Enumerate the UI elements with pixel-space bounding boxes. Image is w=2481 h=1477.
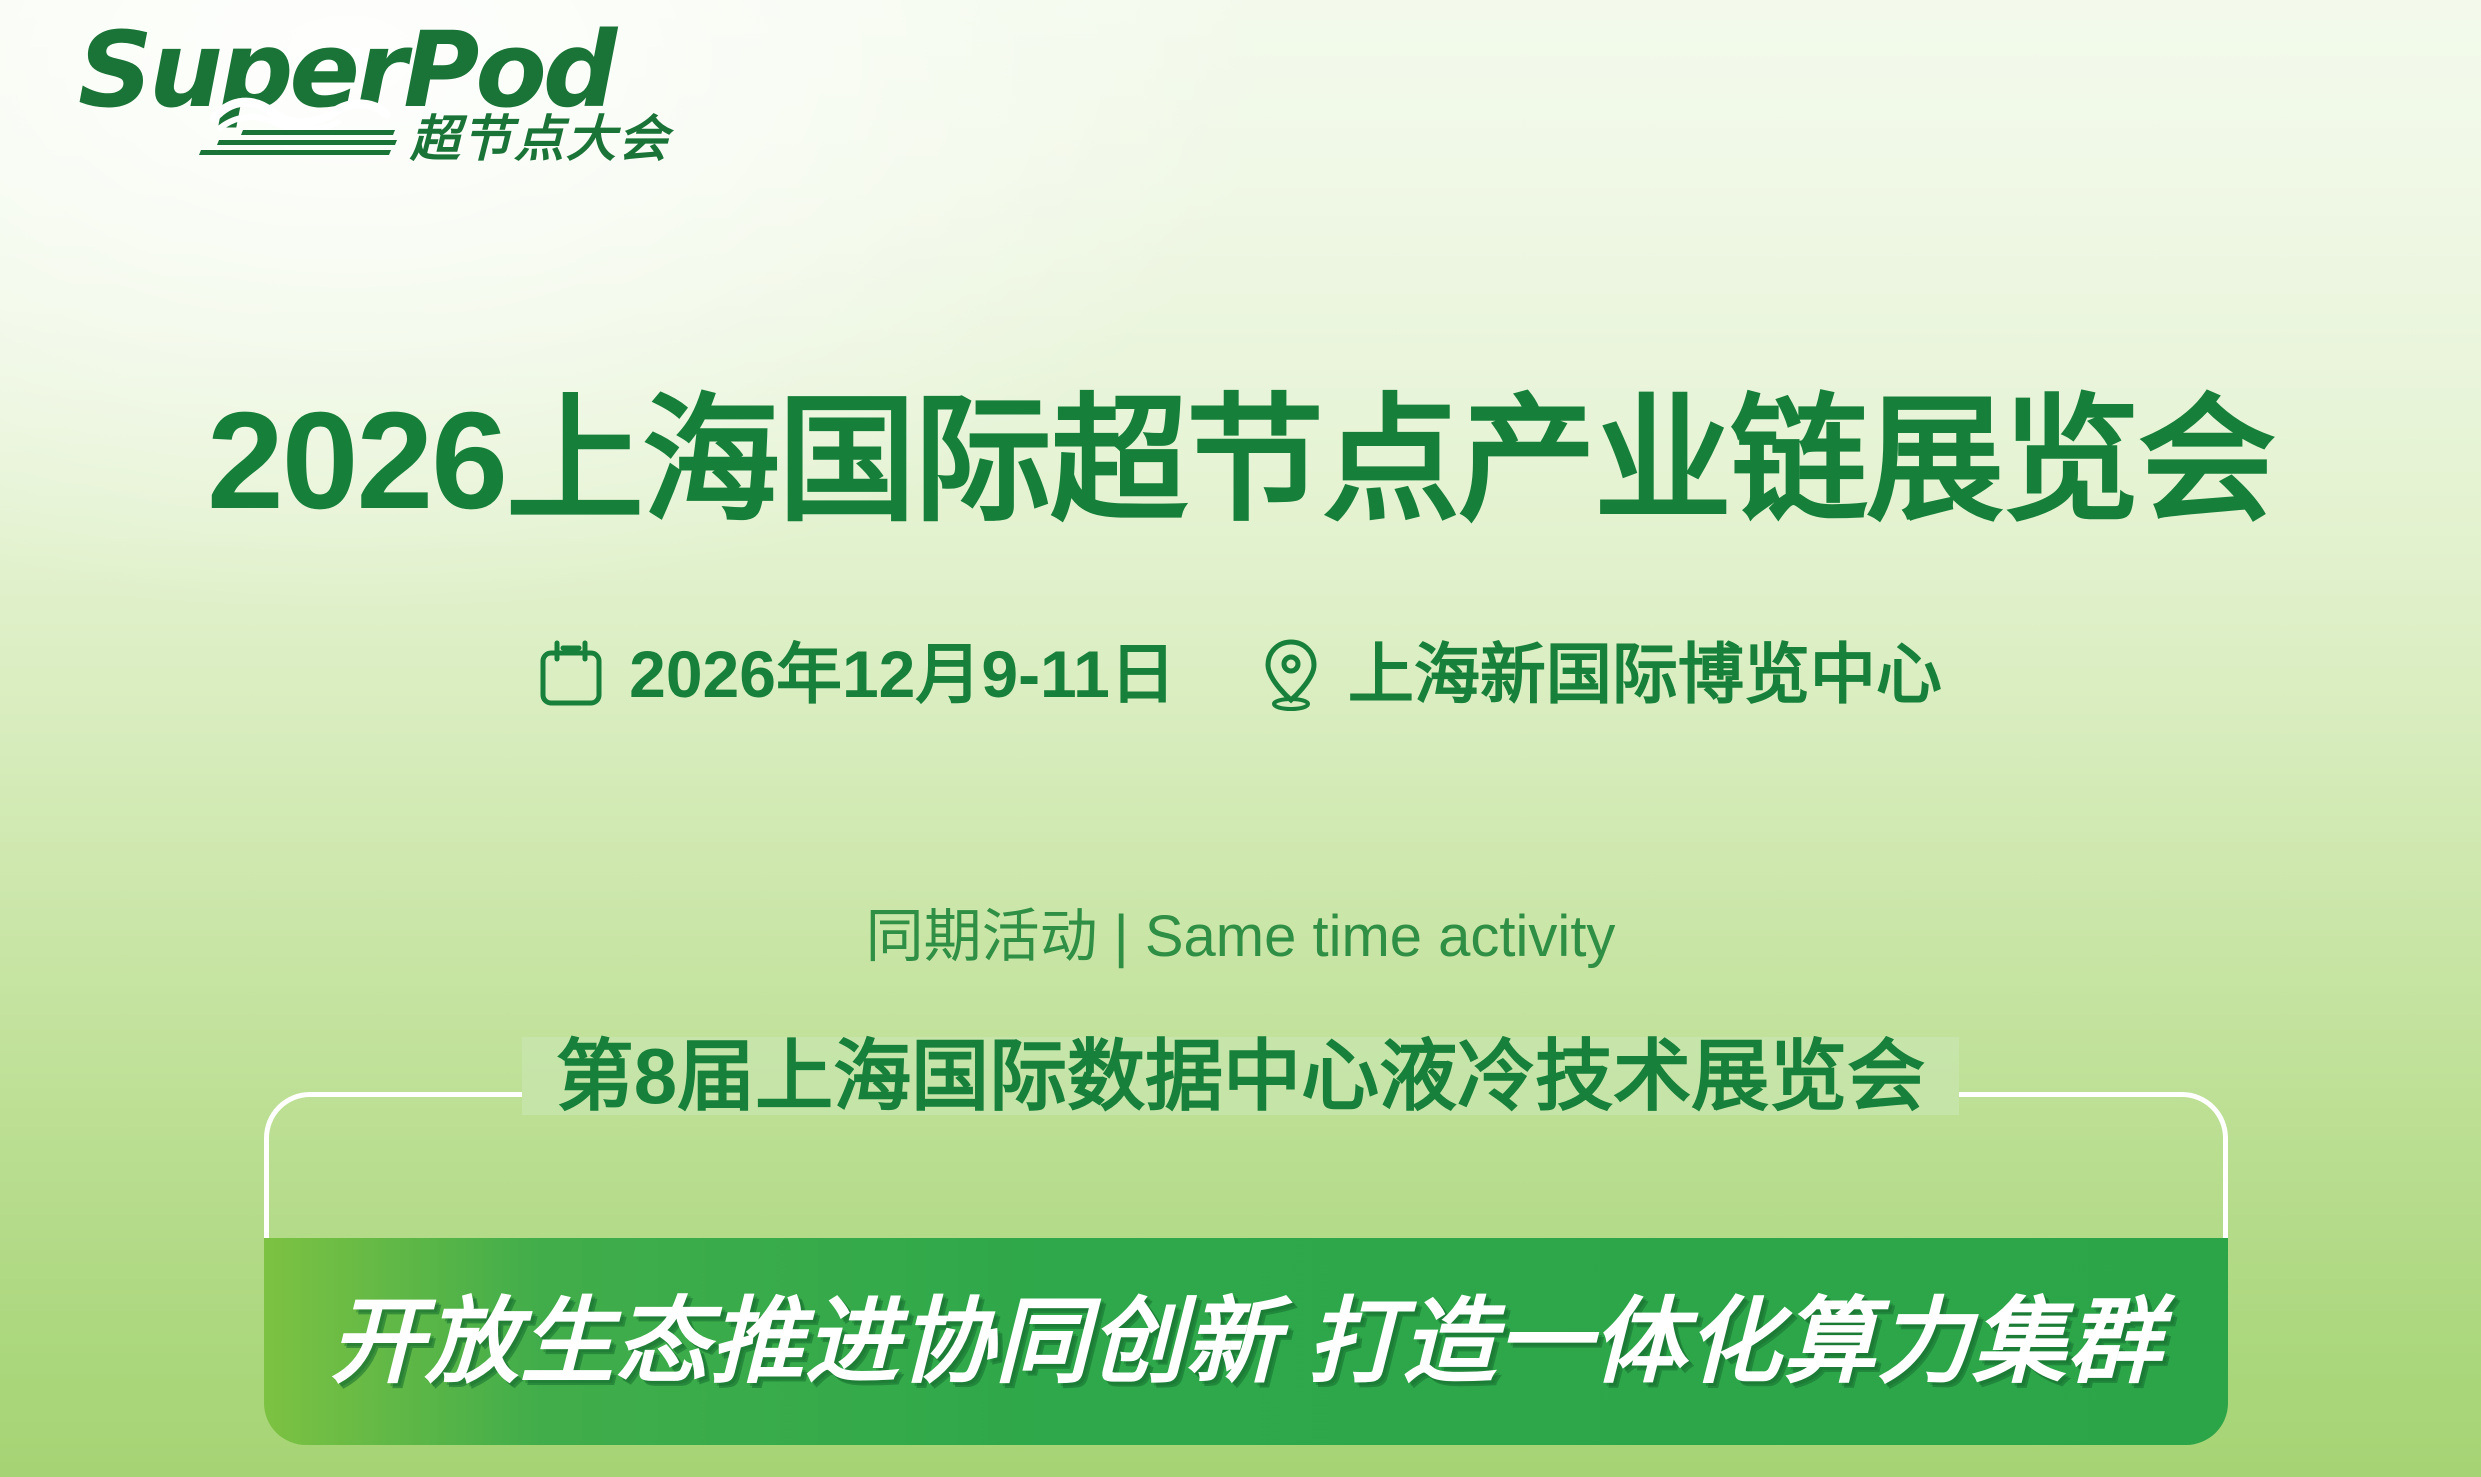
event-date: 2026年12月9-11日 [539, 639, 1176, 709]
brand-logo[interactable]: SuperPod 超节点大会 [78, 18, 598, 158]
speed-lines-icon [186, 130, 396, 156]
event-info-row: 2026年12月9-11日 上海新国际博览中心 [0, 636, 2481, 712]
calendar-icon [539, 639, 603, 709]
slogan-banner: 开放生态推进协同创新 打造一体化算力集群 [264, 1238, 2228, 1445]
event-venue-text: 上海新国际博览中心 [1348, 641, 1942, 707]
logo-wordmark: SuperPod [78, 18, 613, 122]
sub-exhibition-title: 第8届上海国际数据中心液冷技术展览会 [522, 1037, 1959, 1115]
event-venue: 上海新国际博览中心 [1260, 636, 1942, 712]
event-date-text: 2026年12月9-11日 [629, 641, 1176, 707]
same-time-activity-label: 同期活动 | Same time activity [0, 908, 2481, 966]
sub-exhibition-heading: 第8届上海国际数据中心液冷技术展览会 [0, 1037, 2481, 1115]
location-pin-icon [1260, 636, 1322, 712]
slogan-text: 开放生态推进协同创新 打造一体化算力集群 [330, 1295, 2162, 1389]
page-title: 2026上海国际超节点产业链展览会 [0, 392, 2481, 530]
logo-subtitle-cn: 超节点大会 [410, 114, 670, 164]
poster-canvas: SuperPod 超节点大会 2026上海国际超节点产业链展览会 2026年12… [0, 0, 2481, 1477]
